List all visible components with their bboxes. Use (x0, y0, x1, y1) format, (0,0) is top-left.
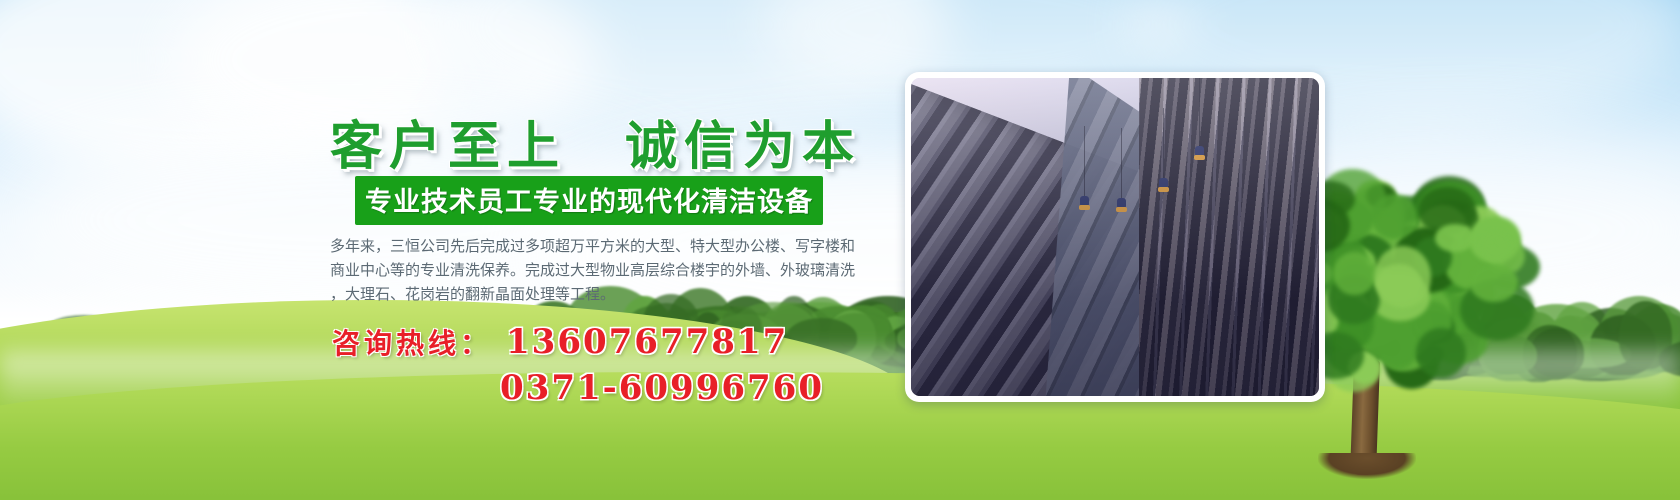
photo-facade-right-mullions (1139, 78, 1319, 396)
promo-banner: 客户至上 诚信为本 专业技术员工专业的现代化清洁设备 多年来，三恒公司先后完成过… (0, 0, 1680, 500)
hotline-mobile-number: 13607677817 (506, 322, 788, 362)
worker-harness (1158, 187, 1169, 192)
worker-harness (1079, 205, 1090, 210)
worker-rope (1121, 128, 1122, 200)
worker-rope (1163, 108, 1164, 180)
tree-foliage (1333, 252, 1376, 295)
hotline-label: 咨询热线： (332, 327, 492, 360)
rope-access-worker (1079, 196, 1090, 214)
tree-root (1318, 453, 1416, 479)
worker-rope (1084, 126, 1085, 198)
tree-foliage (1470, 264, 1519, 302)
description-line: ，大理石、花岗岩的翻新晶面处理等工程。 (330, 282, 890, 306)
description-block: 多年来，三恒公司先后完成过多项超万平方米的大型、特大型办公楼、写字楼和 商业中心… (330, 234, 890, 306)
tree-foliage (1416, 328, 1466, 379)
description-line: 多年来，三恒公司先后完成过多项超万平方米的大型、特大型办公楼、写字楼和 (330, 234, 890, 258)
rope-access-worker (1158, 178, 1169, 196)
rope-access-worker (1116, 198, 1127, 216)
building-photo-card (905, 72, 1325, 402)
tree-foliage (1374, 246, 1431, 308)
building-photo (911, 78, 1319, 396)
subtitle-bar-label: 专业技术员工专业的现代化清洁设备 (365, 187, 813, 218)
tree-foliage (1435, 224, 1475, 252)
worker-harness (1116, 207, 1127, 212)
hotline-row: 咨询热线：13607677817 (332, 322, 788, 362)
subtitle-bar: 专业技术员工专业的现代化清洁设备 (355, 176, 823, 225)
page-title: 客户至上 诚信为本 (330, 104, 861, 179)
worker-harness (1194, 155, 1205, 160)
description-line: 商业中心等的专业清洗保养。完成过大型物业高层综合楼宇的外墙、外玻璃清洗 (330, 258, 890, 282)
rope-access-worker (1194, 146, 1205, 164)
worker-rope (1199, 78, 1200, 148)
hotline-landline-number: 0371-60996760 (500, 368, 824, 408)
